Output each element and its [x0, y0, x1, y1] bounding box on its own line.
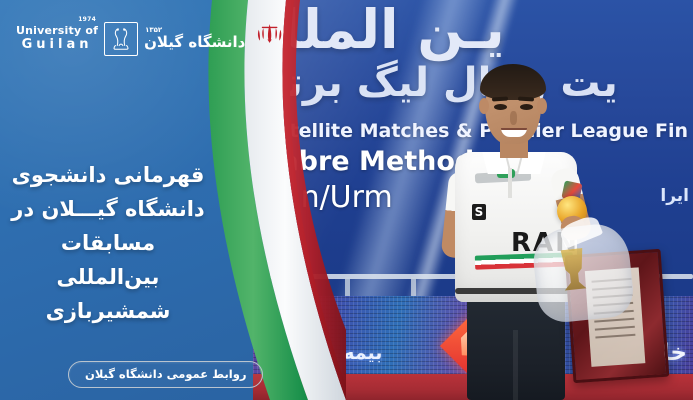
logo-year-persian: ۱۳۵۲	[145, 26, 162, 34]
railing-post	[279, 277, 284, 297]
athlete-ear-right	[537, 98, 547, 114]
railing-post	[411, 277, 416, 297]
guilan-birds-emblem-icon	[104, 22, 138, 56]
shirt-brand-badge: S	[472, 204, 486, 220]
headline-line-2: دانشگاه گیـــلان در	[8, 192, 208, 226]
backdrop-persian-line-1: یـن المللـ	[253, 2, 687, 59]
logo-english-line-1: University of	[16, 25, 98, 38]
athlete-eye-left	[494, 104, 507, 110]
logo-persian-text: ۱۳۵۲ دانشگاه گیلان	[144, 27, 245, 51]
photo-canvas: یـن المللـ یت و نال لیگ برتر Satellite M…	[253, 0, 693, 400]
athlete-ear-left	[479, 98, 489, 114]
page-title: قهرمانی دانشجوی دانشگاه گیـــلان در مساب…	[0, 158, 216, 328]
trophy-in-plastic-bag	[530, 221, 635, 325]
athlete-hair	[480, 64, 546, 100]
trophy-cup	[555, 247, 593, 294]
university-logo[interactable]: 1974 University of Guilan ۱۳۵۲ دانشگاه گ…	[16, 22, 245, 56]
headline-line-3: مسابقات بین‌المللی	[8, 226, 208, 294]
public-relations-badge[interactable]: روابط عمومی دانشگاه گیلان	[68, 361, 263, 388]
railing-post	[345, 277, 350, 297]
backdrop-english-line-3: Iran/Urm	[261, 180, 393, 215]
news-banner: یـن المللـ یت و نال لیگ برتر Satellite M…	[0, 0, 693, 400]
sponsor-mellat-english: elat	[299, 362, 329, 374]
logo-english-line-2: Guilan	[22, 38, 93, 53]
shirt-placket	[508, 168, 512, 198]
headline-line-1: قهرمانی دانشجوی	[8, 158, 208, 192]
athlete-eye-right	[520, 104, 533, 110]
athlete-nose	[510, 111, 517, 125]
logo-year-english: 1974	[78, 17, 96, 24]
athlete-figure: S RAN	[439, 56, 599, 400]
headline-line-4: شمشیربازی	[8, 294, 208, 328]
logo-english-text: 1974 University of Guilan	[16, 25, 98, 53]
award-ceremony-photo: یـن المللـ یت و نال لیگ برتر Satellite M…	[253, 0, 693, 400]
backdrop-persian-small: ایرا	[660, 186, 689, 206]
sponsor-mellat-persian: بیمه ملت	[297, 342, 382, 364]
